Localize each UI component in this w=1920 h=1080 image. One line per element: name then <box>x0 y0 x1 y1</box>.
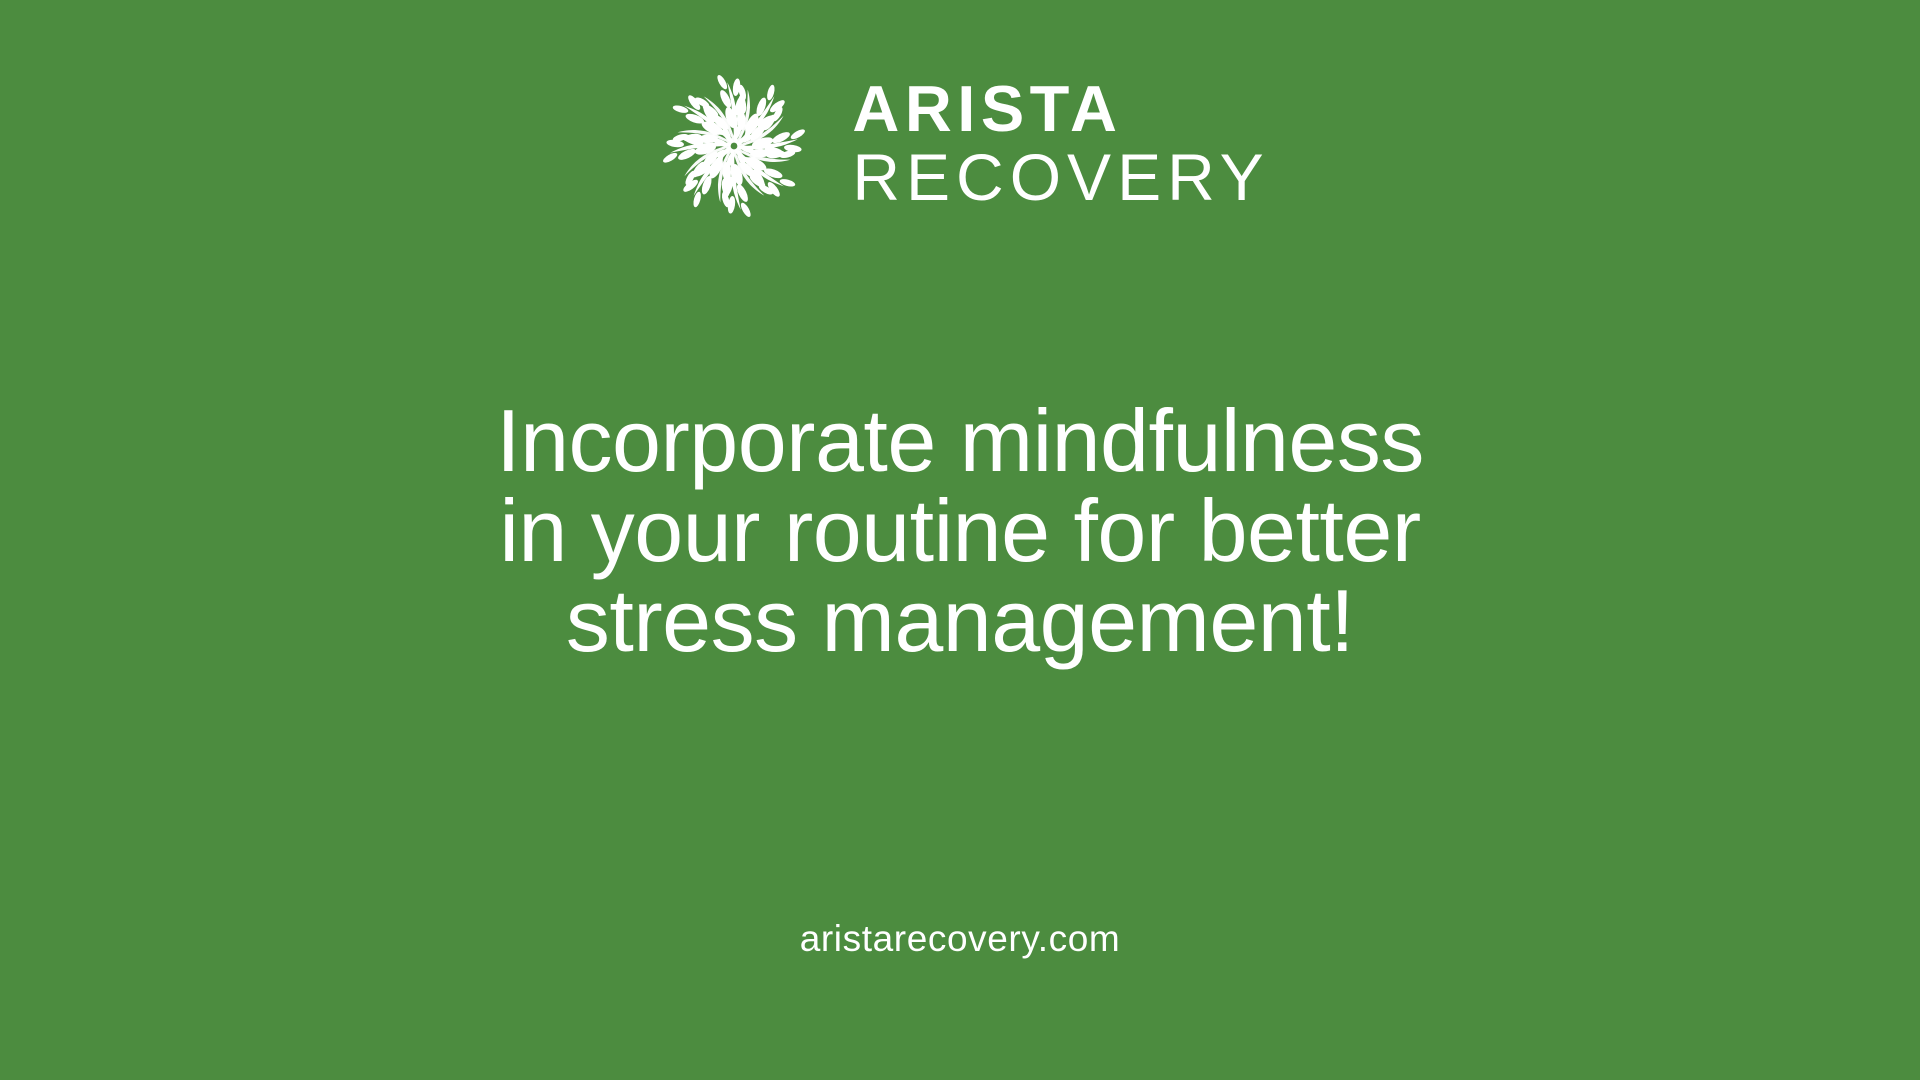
brand-wordmark: ARISTA RECOVERY <box>852 77 1269 215</box>
brand-name-primary: ARISTA <box>852 77 1122 141</box>
brand-name-secondary: RECOVERY <box>852 143 1269 213</box>
headline: Incorporate mindfulness in your routine … <box>0 396 1920 665</box>
brand-logo-lockup: ARISTA RECOVERY <box>0 62 1920 230</box>
headline-line-2: in your routine for better <box>120 486 1800 576</box>
website-url[interactable]: aristarecovery.com <box>0 918 1920 960</box>
social-graphic-slide: ARISTA RECOVERY Incorporate mindfulness … <box>0 0 1920 1080</box>
headline-line-3: stress management! <box>120 576 1800 666</box>
leaf-mandala-icon <box>650 62 818 230</box>
headline-line-1: Incorporate mindfulness <box>120 396 1800 486</box>
